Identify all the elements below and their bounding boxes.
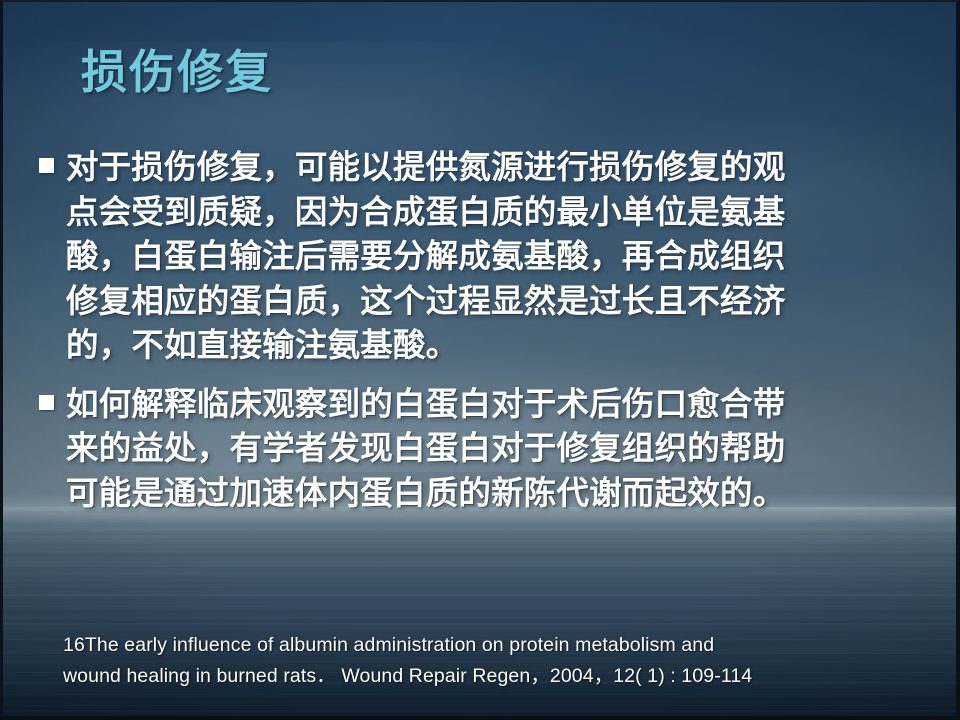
list-item: 对于损伤修复，可能以提供氮源进行损伤修复的观 点会受到质疑，因为合成蛋白质的最小… [39,145,939,368]
list-item: 如何解释临床观察到的白蛋白对于术后伤口愈合带 来的益处，有学者发现白蛋白对于修复… [39,382,939,516]
bullet-list: 对于损伤修复，可能以提供氮源进行损伤修复的观 点会受到质疑，因为合成蛋白质的最小… [39,145,939,529]
square-bullet-icon [39,158,54,173]
presentation-slide: 损伤修复 对于损伤修复，可能以提供氮源进行损伤修复的观 点会受到质疑，因为合成蛋… [0,0,960,720]
square-bullet-icon [39,395,54,410]
bullet-paragraph-1: 对于损伤修复，可能以提供氮源进行损伤修复的观 点会受到质疑，因为合成蛋白质的最小… [66,145,939,368]
slide-content: 损伤修复 对于损伤修复，可能以提供氮源进行损伤修复的观 点会受到质疑，因为合成蛋… [3,2,956,716]
bullet-paragraph-2: 如何解释临床观察到的白蛋白对于术后伤口愈合带 来的益处，有学者发现白蛋白对于修复… [66,382,939,516]
reference-citation: 16The early influence of albumin adminis… [63,630,933,692]
slide-title: 损伤修复 [81,46,273,99]
